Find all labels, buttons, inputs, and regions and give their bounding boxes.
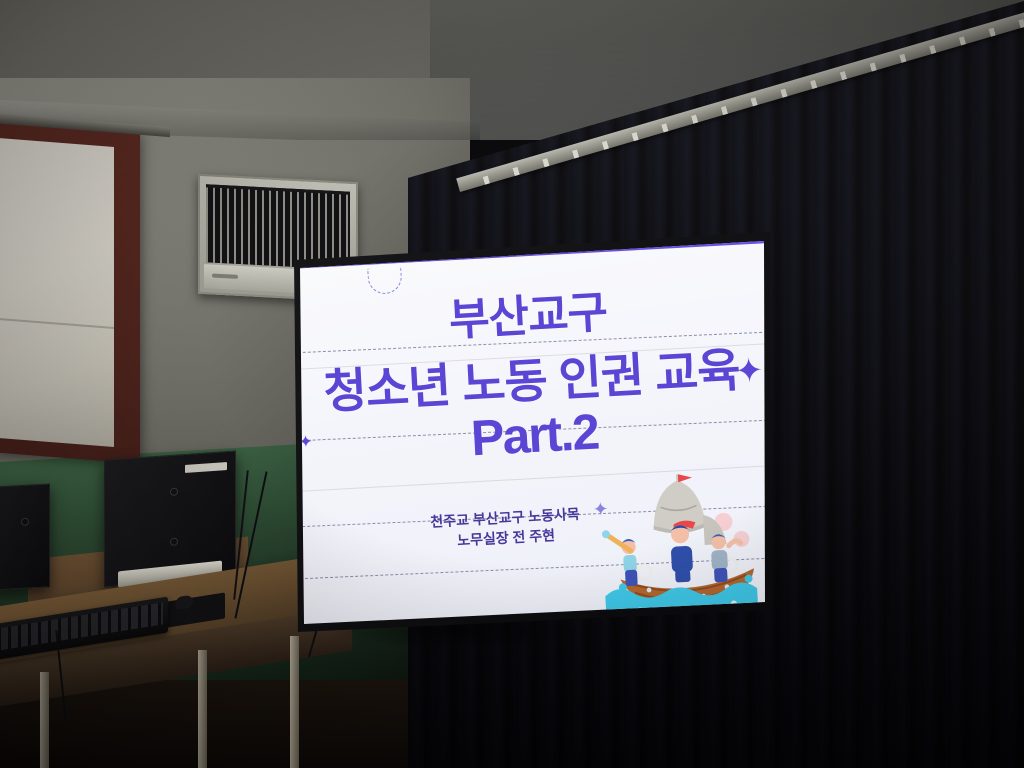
ship-flag xyxy=(678,474,692,483)
pc-sticker-label xyxy=(185,462,227,473)
sailing-ship-illustration xyxy=(593,463,776,623)
child-pants xyxy=(625,570,638,587)
wall-mounted-television[interactable]: ✦ ✦ ✦ 부산교구 청소년 노동 인권 교육 Part.2 천주교 부산교구 … xyxy=(286,232,776,632)
desk-leg xyxy=(290,636,299,768)
presentation-title-slide: ✦ ✦ ✦ 부산교구 청소년 노동 인권 교육 Part.2 천주교 부산교구 … xyxy=(286,232,776,632)
child-shirt xyxy=(623,555,637,573)
ship-rail-ring xyxy=(637,565,652,580)
pc-power-button-icon[interactable] xyxy=(170,487,178,496)
pc-power-button-icon[interactable] xyxy=(21,518,29,526)
window-frosted-glass xyxy=(0,137,114,447)
desk-leg xyxy=(40,672,49,768)
classroom-photo-scene: ✦ ✦ ✦ 부산교구 청소년 노동 인권 교육 Part.2 천주교 부산교구 … xyxy=(0,0,1024,768)
child-pants xyxy=(714,568,728,583)
child-shirt xyxy=(711,550,728,571)
pc-tower-secondary[interactable] xyxy=(0,483,50,590)
desk-leg xyxy=(198,650,207,768)
child-pants xyxy=(675,570,691,583)
child-shirt xyxy=(671,546,693,573)
pc-reset-button-icon[interactable] xyxy=(170,537,178,546)
tv-screen[interactable]: ✦ ✦ ✦ 부산교구 청소년 노동 인권 교육 Part.2 천주교 부산교구 … xyxy=(286,232,776,632)
